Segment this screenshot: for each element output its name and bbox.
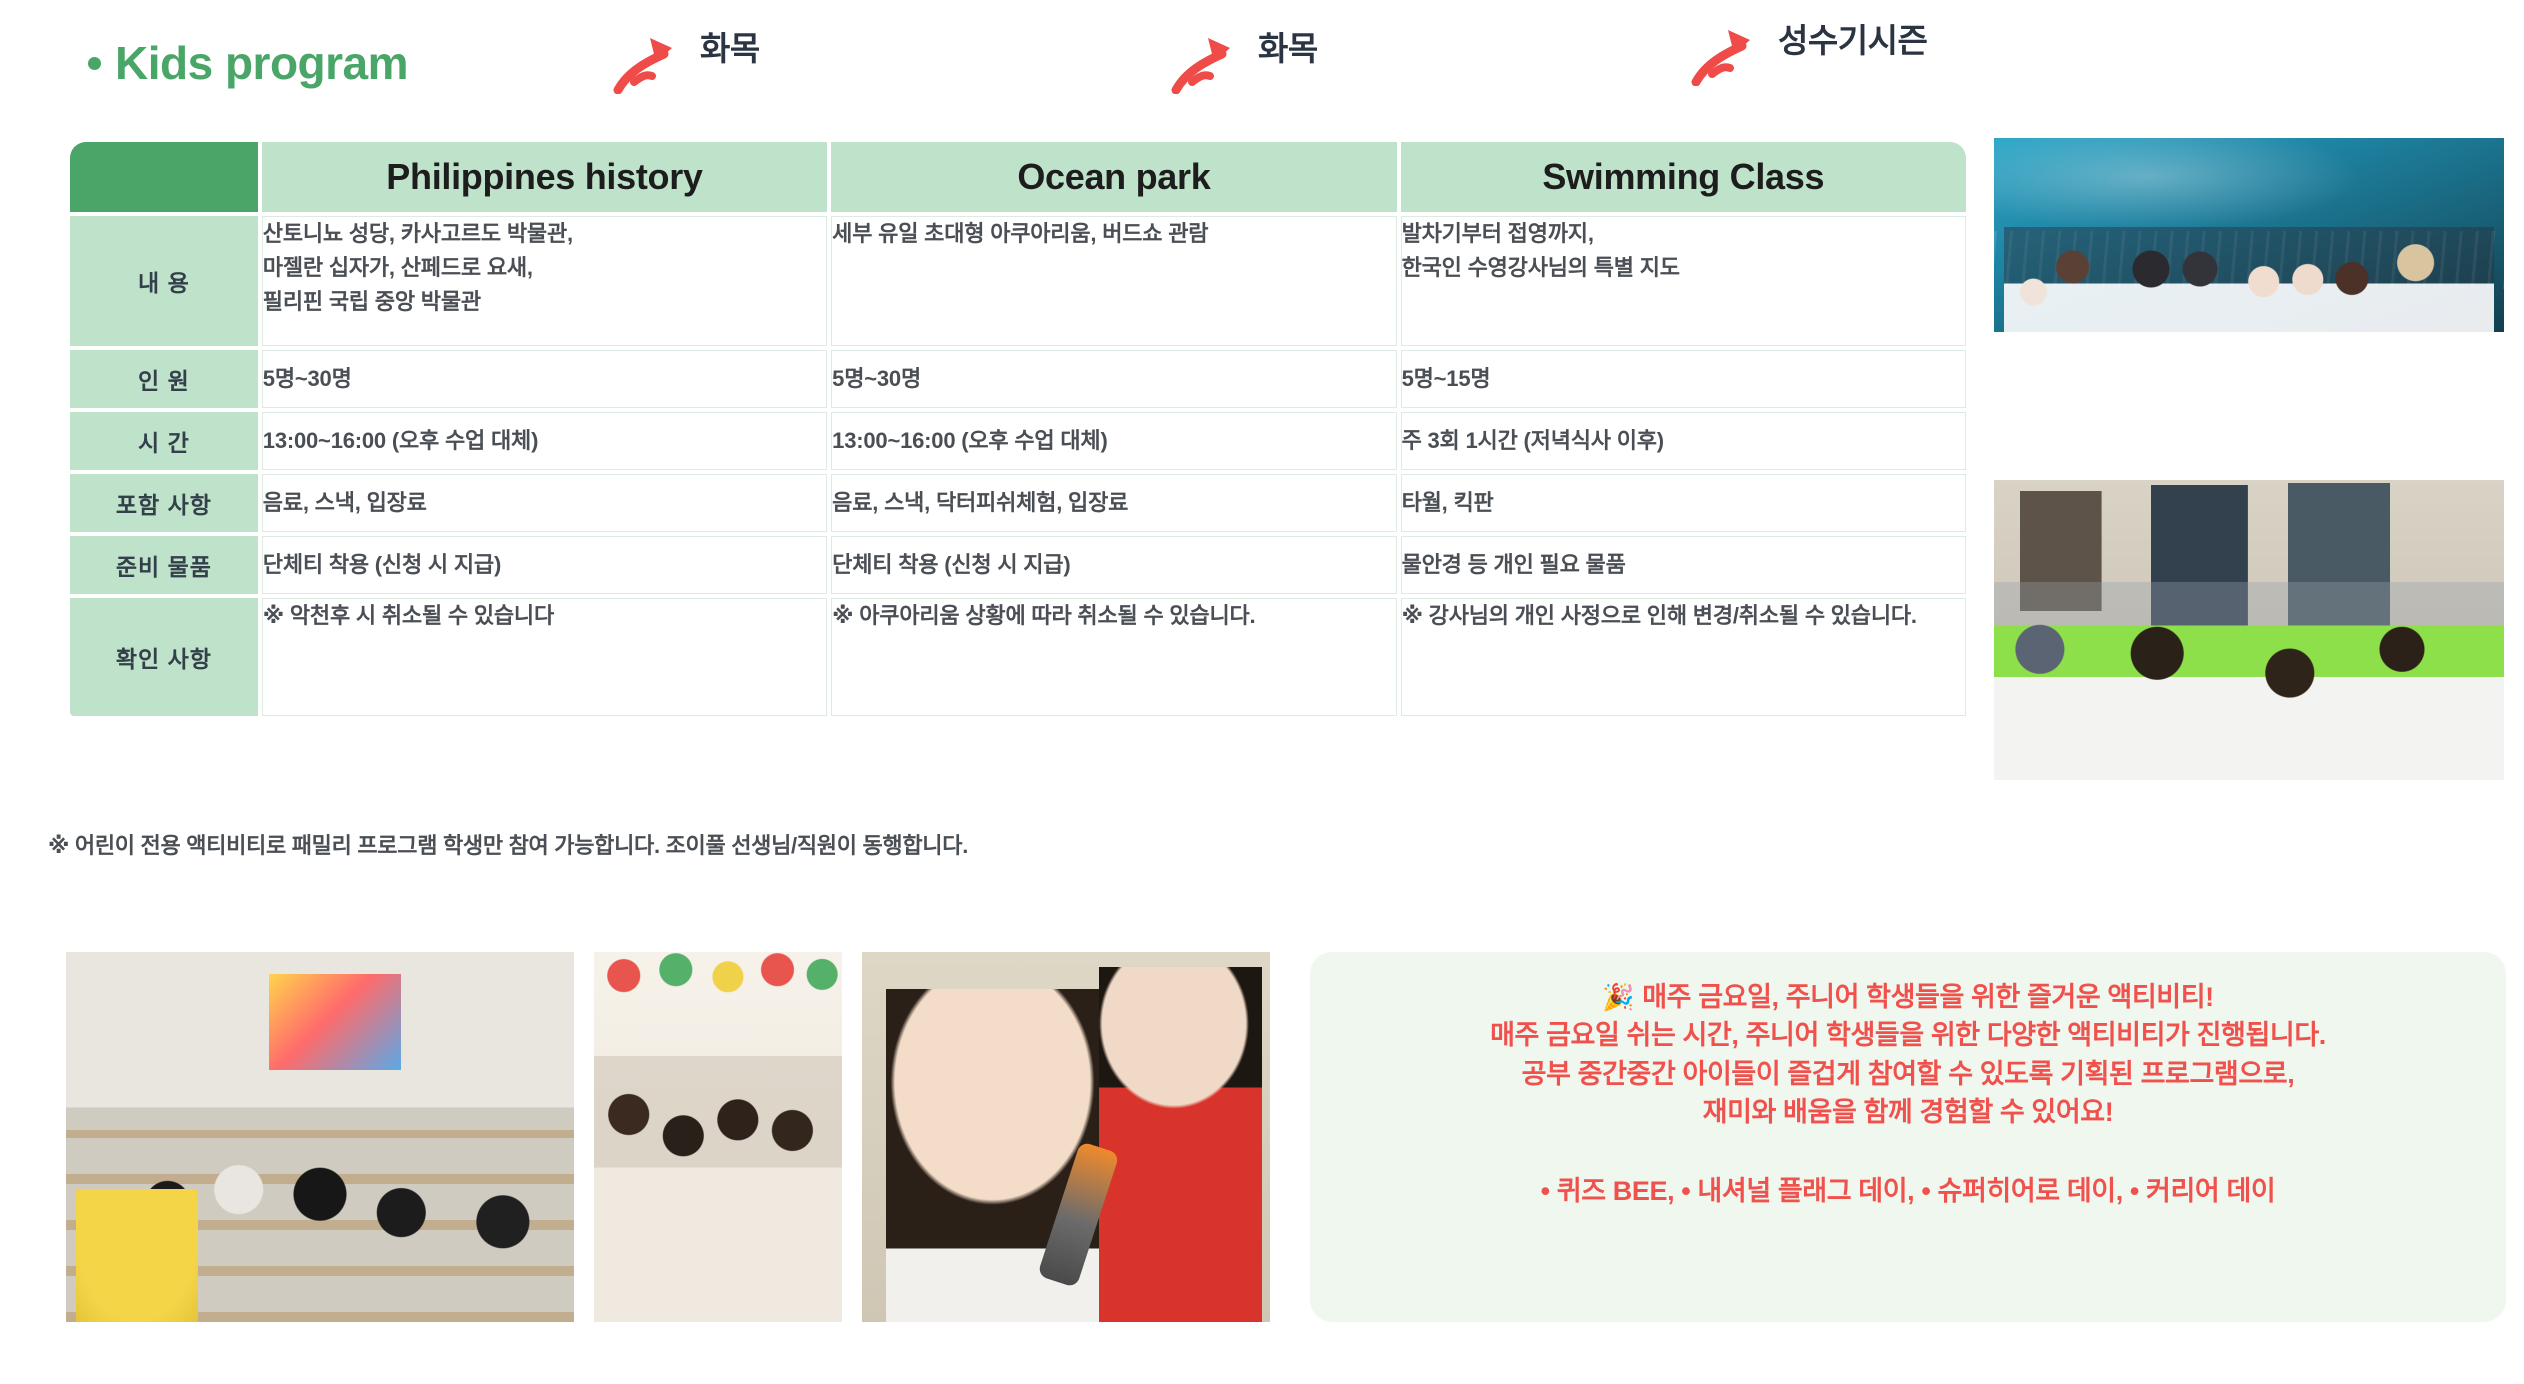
row-label-people: 인 원 (70, 350, 258, 408)
curved-arrow-icon (612, 32, 698, 94)
table-header-row: Philippines history Ocean park Swimming … (70, 142, 1966, 212)
annotation-3: 성수기시즌 (1690, 14, 1927, 86)
cell-prepare-3: 물안경 등 개인 필요 물품 (1401, 536, 1966, 594)
cell-notice-2: ※ 아쿠아리움 상황에 따라 취소될 수 있습니다. (831, 598, 1396, 716)
annotation-2-label: 화목 (1258, 22, 1318, 70)
infobox-line-4: 재미와 배움을 함께 경험할 수 있어요! (1703, 1093, 2114, 1131)
student-yellow-shirt (76, 1189, 198, 1322)
row-label-notice: 확인 사항 (70, 598, 258, 716)
museum-kids-photo (1994, 480, 2504, 780)
cell-content-1: 산토니뇨 성당, 카사고르도 박물관,마젤란 십자가, 산페드로 요새,필리핀 … (262, 216, 827, 346)
table-footnote: ※ 어린이 전용 액티비티로 패밀리 프로그램 학생만 참여 가능합니다. 조이… (48, 828, 968, 860)
cell-notice-3: ※ 강사님의 개인 사정으로 인해 변경/취소될 수 있습니다. (1401, 598, 1966, 716)
row-label-included: 포함 사항 (70, 474, 258, 532)
cell-people-2: 5명~30명 (831, 350, 1396, 408)
infobox-line-3: 공부 중간중간 아이들이 즐겁게 참여할 수 있도록 기획된 프로그램으로, (1522, 1055, 2295, 1093)
party-popper-icon: 🎉 (1602, 979, 1634, 1016)
kids-program-slide: Kids program 화목 화목 성수기시즌 (0, 0, 2524, 1384)
table-header-program-2: Ocean park (831, 142, 1396, 212)
aquarium-group-photo (1994, 138, 2504, 332)
cell-included-2: 음료, 스낵, 닥터피쉬체험, 입장료 (831, 474, 1396, 532)
cell-notice-1: ※ 악천후 시 취소될 수 있습니다 (262, 598, 827, 716)
table-row-time: 시 간 13:00~16:00 (오후 수업 대체) 13:00~16:00 (… (70, 412, 1966, 470)
classroom-activity-photo (66, 952, 574, 1322)
cell-included-1: 음료, 스낵, 입장료 (262, 474, 827, 532)
table-row-people: 인 원 5명~30명 5명~30명 5명~15명 (70, 350, 1966, 408)
table-row-prepare: 준비 물품 단체티 착용 (신청 시 지급) 단체티 착용 (신청 시 지급) … (70, 536, 1966, 594)
infobox-line-1-wrapper: 🎉 매주 금요일, 주니어 학생들을 위한 즐거운 액티비티! (1602, 978, 2214, 1016)
annotation-3-label: 성수기시즌 (1778, 14, 1927, 62)
festival-kids-group (594, 1056, 842, 1322)
museum-kids-group (1994, 582, 2504, 780)
page-title: Kids program (88, 40, 408, 86)
bullet-icon (88, 57, 101, 70)
cell-time-3: 주 3회 1시간 (저녁식사 이후) (1401, 412, 1966, 470)
cell-time-2: 13:00~16:00 (오후 수업 대체) (831, 412, 1396, 470)
curved-arrow-icon (1690, 24, 1776, 86)
festival-kids-photo (594, 952, 842, 1322)
curved-arrow-icon (1170, 32, 1256, 94)
cell-prepare-2: 단체티 착용 (신청 시 지급) (831, 536, 1396, 594)
interview-kid-photo (862, 952, 1270, 1322)
infobox-line-1: 매주 금요일, 주니어 학생들을 위한 즐거운 액티비티! (1642, 978, 2214, 1016)
page-title-text: Kids program (115, 40, 408, 86)
table-header-program-3: Swimming Class (1401, 142, 1966, 212)
aquarium-group-people (2004, 227, 2494, 332)
festival-bunting-flags (594, 952, 842, 1011)
cell-content-2: 세부 유일 초대형 아쿠아리움, 버드쇼 관람 (831, 216, 1396, 346)
interview-boy (1099, 967, 1262, 1322)
table-corner-cell (70, 142, 258, 212)
cell-people-3: 5명~15명 (1401, 350, 1966, 408)
row-label-time: 시 간 (70, 412, 258, 470)
table-row-content: 내 용 산토니뇨 성당, 카사고르도 박물관,마젤란 십자가, 산페드로 요새,… (70, 216, 1966, 346)
table-header-program-1: Philippines history (262, 142, 827, 212)
annotation-1-label: 화목 (700, 22, 760, 70)
infobox-activity-tags: • 퀴즈 BEE, • 내셔널 플래그 데이, • 슈퍼히어로 데이, • 커리… (1541, 1169, 2276, 1208)
projector-screen (269, 974, 401, 1070)
annotation-2: 화목 (1170, 22, 1318, 94)
annotation-1: 화목 (612, 22, 760, 94)
table-row-included: 포함 사항 음료, 스낵, 입장료 음료, 스낵, 닥터피쉬체험, 입장료 타월… (70, 474, 1966, 532)
cell-people-1: 5명~30명 (262, 350, 827, 408)
row-label-content: 내 용 (70, 216, 258, 346)
kids-program-table: Philippines history Ocean park Swimming … (66, 138, 1970, 720)
cell-included-3: 타월, 킥판 (1401, 474, 1966, 532)
table-row-notice: 확인 사항 ※ 악천후 시 취소될 수 있습니다 ※ 아쿠아리움 상황에 따라 … (70, 598, 1966, 716)
row-label-prepare: 준비 물품 (70, 536, 258, 594)
cell-prepare-1: 단체티 착용 (신청 시 지급) (262, 536, 827, 594)
cell-time-1: 13:00~16:00 (오후 수업 대체) (262, 412, 827, 470)
infobox-line-2: 매주 금요일 쉬는 시간, 주니어 학생들을 위한 다양한 액티비티가 진행됩니… (1490, 1016, 2326, 1054)
friday-activity-infobox: 🎉 매주 금요일, 주니어 학생들을 위한 즐거운 액티비티! 매주 금요일 쉬… (1310, 952, 2506, 1322)
cell-content-3: 발차기부터 접영까지,한국인 수영강사님의 특별 지도 (1401, 216, 1966, 346)
